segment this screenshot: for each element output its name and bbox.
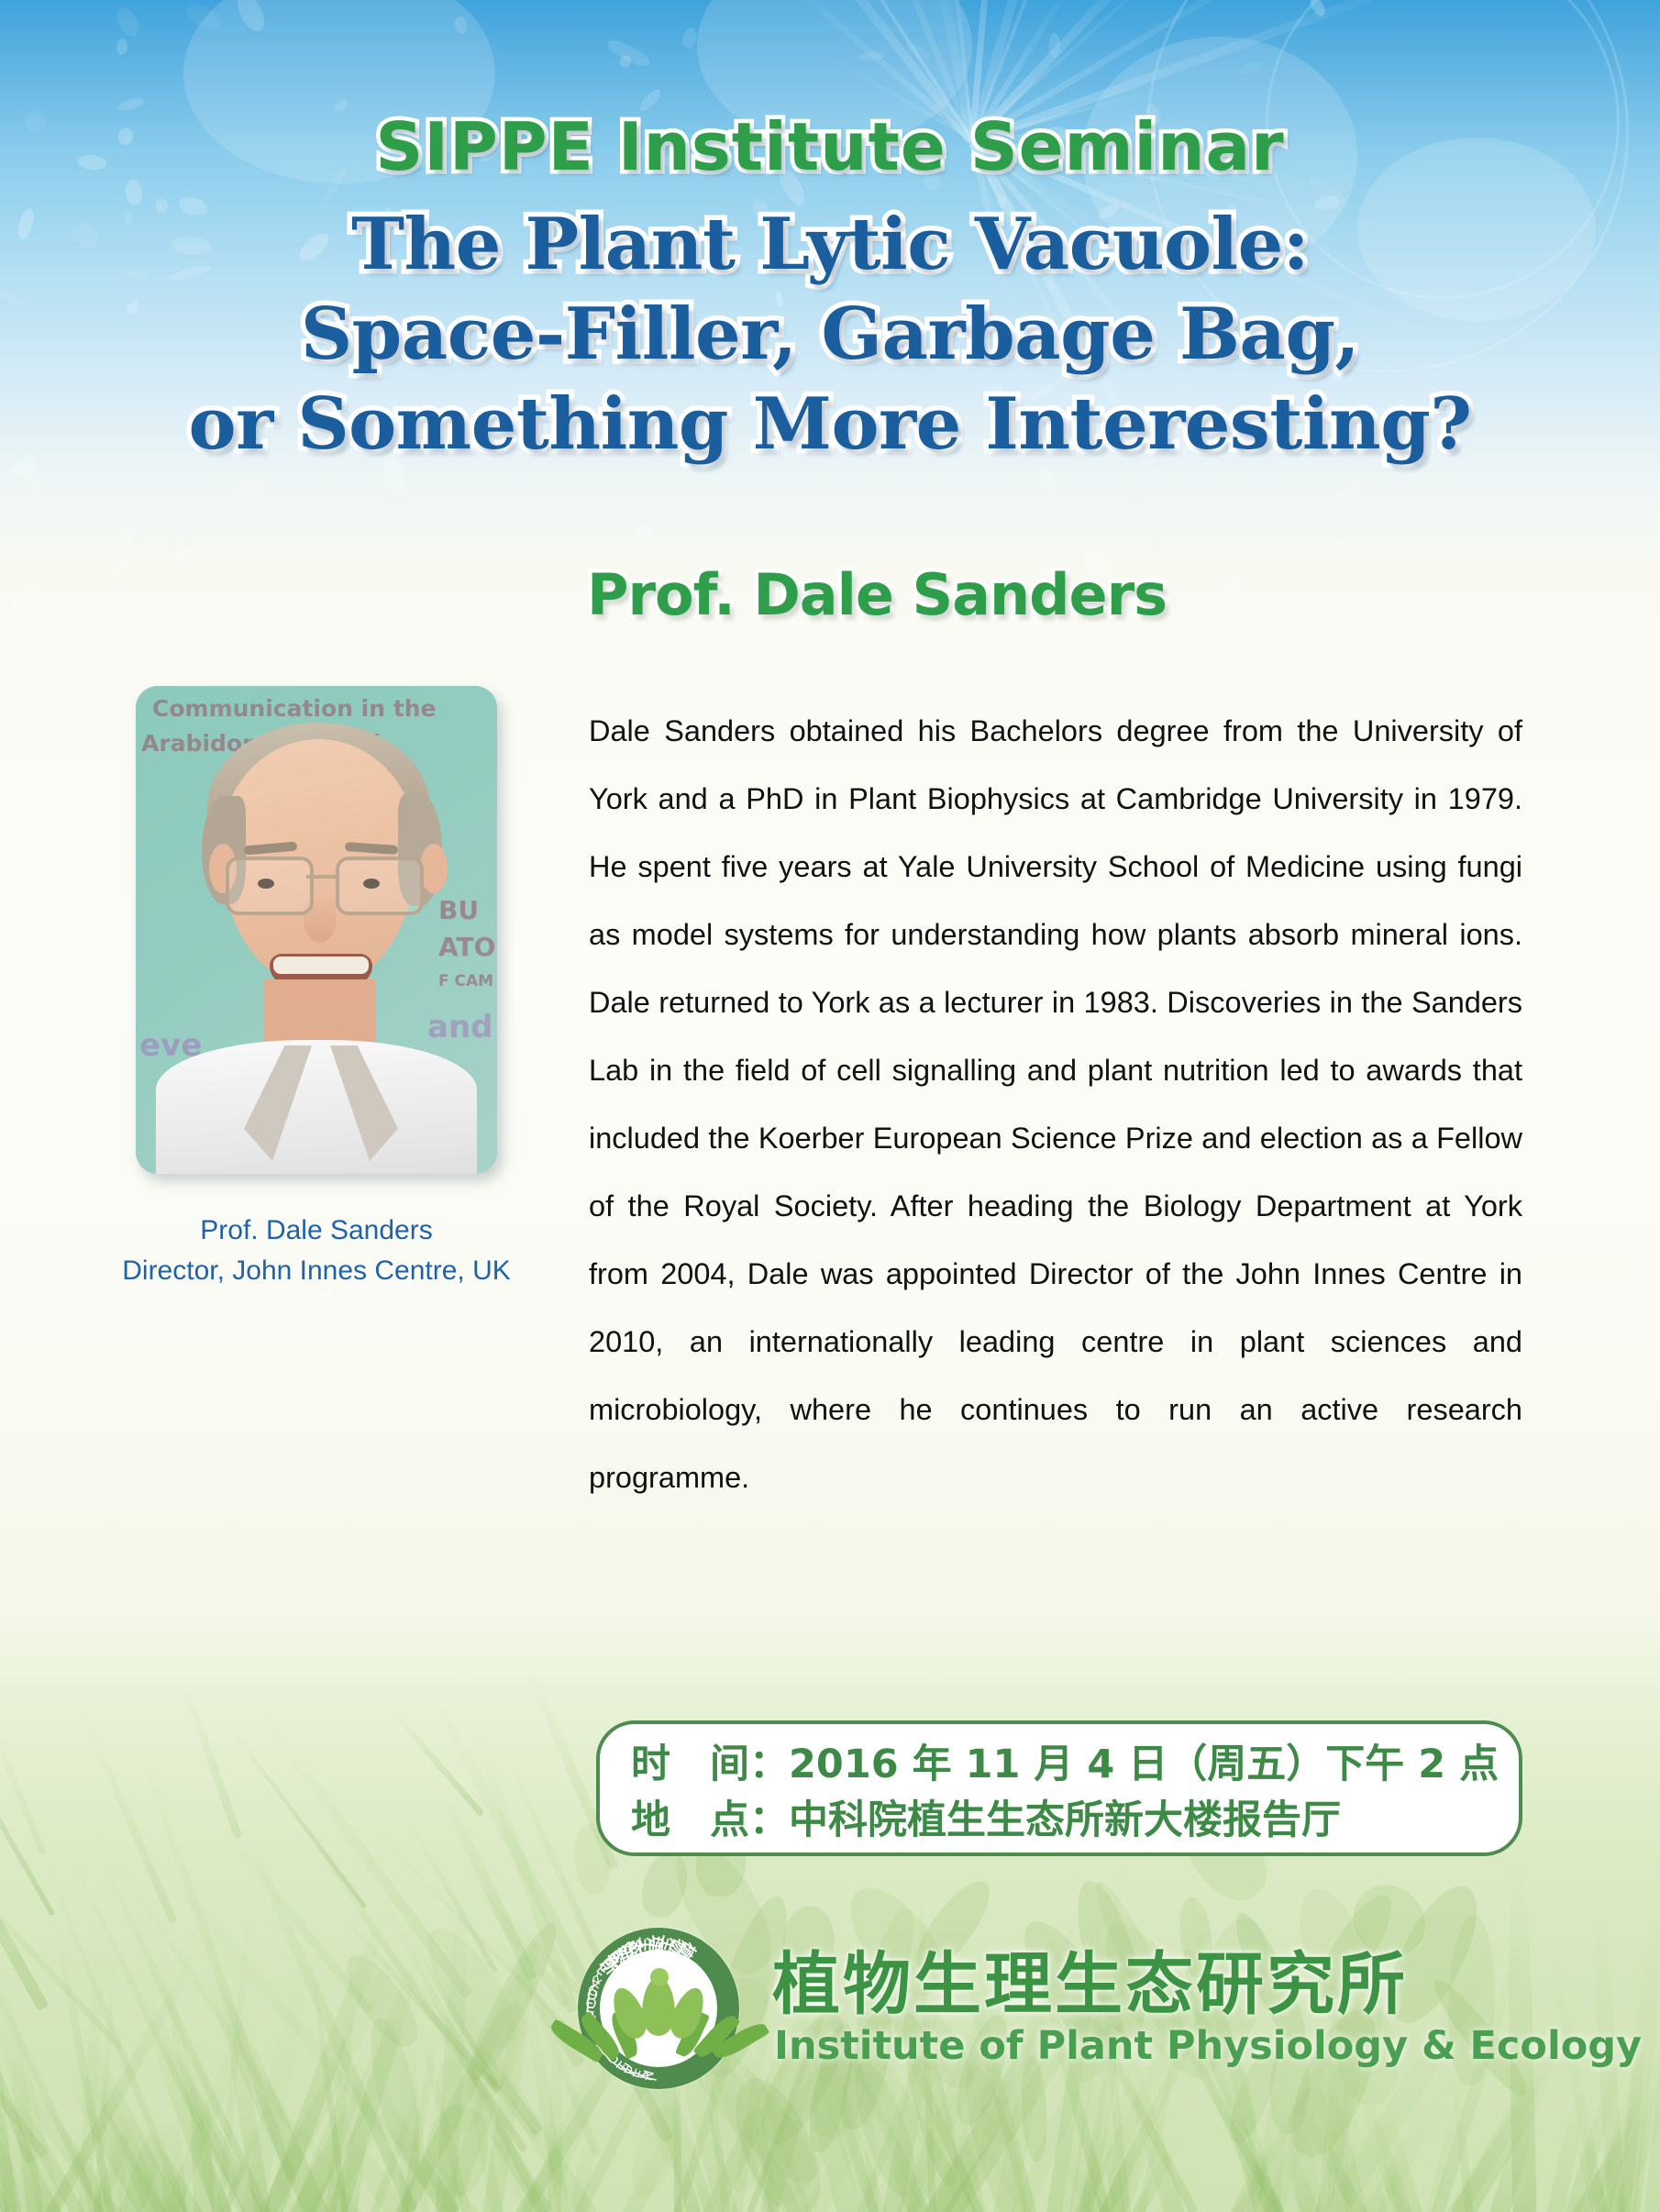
backdrop-text-line-6: and: [427, 1009, 493, 1045]
institute-name-cn: 植物生理生态研究所: [772, 1930, 1408, 2028]
glasses-lens-left: [226, 857, 314, 915]
grass-texture-decoration: [0, 1614, 1660, 2212]
glasses-bridge: [306, 875, 336, 879]
speaker-bio: Dale Sanders obtained his Bachelors degr…: [589, 697, 1522, 1511]
title-line-3: or Something More Interesting?: [0, 380, 1660, 470]
lotus-emblem-icon: [600, 1950, 717, 2067]
title-line-2: Space-Filler, Garbage Bag,: [0, 290, 1660, 380]
event-time-label: 时 间：: [631, 1742, 789, 1787]
seminar-poster: SIPPE Institute Seminar The Plant Lytic …: [0, 0, 1660, 2212]
portrait-teeth: [273, 957, 369, 974]
photo-caption-title: Director, John Innes Centre, UK: [55, 1251, 578, 1291]
event-info-box: 时 间：2016 年 11 月 4 日（周五）下午 2 点 地 点：中科院植生生…: [596, 1720, 1522, 1856]
event-place-value: 中科院植生生态所新大楼报告厅: [789, 1797, 1341, 1843]
photo-caption: Prof. Dale Sanders Director, John Innes …: [55, 1211, 578, 1291]
photo-caption-name: Prof. Dale Sanders: [55, 1211, 578, 1251]
backdrop-text-line-4: ATO: [438, 932, 495, 962]
institute-name-en: Institute of Plant Physiology & Ecology: [774, 2023, 1642, 2069]
title-line-1: The Plant Lytic Vacuole:: [0, 200, 1660, 290]
backdrop-text-line-5: F CAM: [438, 972, 493, 990]
event-place-line: 地 点：中科院植生生态所新大楼报告厅: [631, 1793, 1488, 1849]
seminar-kicker: SIPPE Institute Seminar: [0, 108, 1660, 185]
speaker-photo: Communication in the Arabidopsis Apical …: [136, 686, 497, 1174]
speaker-name: Prof. Dale Sanders: [587, 561, 1167, 628]
institute-seal-logo: INSTITUTE OF PLANT PHYSIOLOGY & ECOLOGY …: [578, 1928, 739, 2089]
institute-footer: INSTITUTE OF PLANT PHYSIOLOGY & ECOLOGY …: [578, 1924, 1403, 2095]
glasses-lens-right: [336, 857, 424, 915]
portrait-shirt: [156, 1040, 477, 1174]
event-place-label: 地 点：: [631, 1797, 789, 1843]
backdrop-text-line-3: BU: [438, 895, 479, 925]
event-time-line: 时 间：2016 年 11 月 4 日（周五）下午 2 点: [631, 1737, 1488, 1793]
page-title: The Plant Lytic Vacuole: Space-Filler, G…: [0, 200, 1660, 470]
backdrop-text-line-1: Communication in the: [152, 695, 436, 722]
event-time-value: 2016 年 11 月 4 日（周五）下午 2 点: [789, 1742, 1499, 1787]
portrait-nose: [304, 895, 337, 943]
portrait-ear-right: [420, 844, 448, 893]
